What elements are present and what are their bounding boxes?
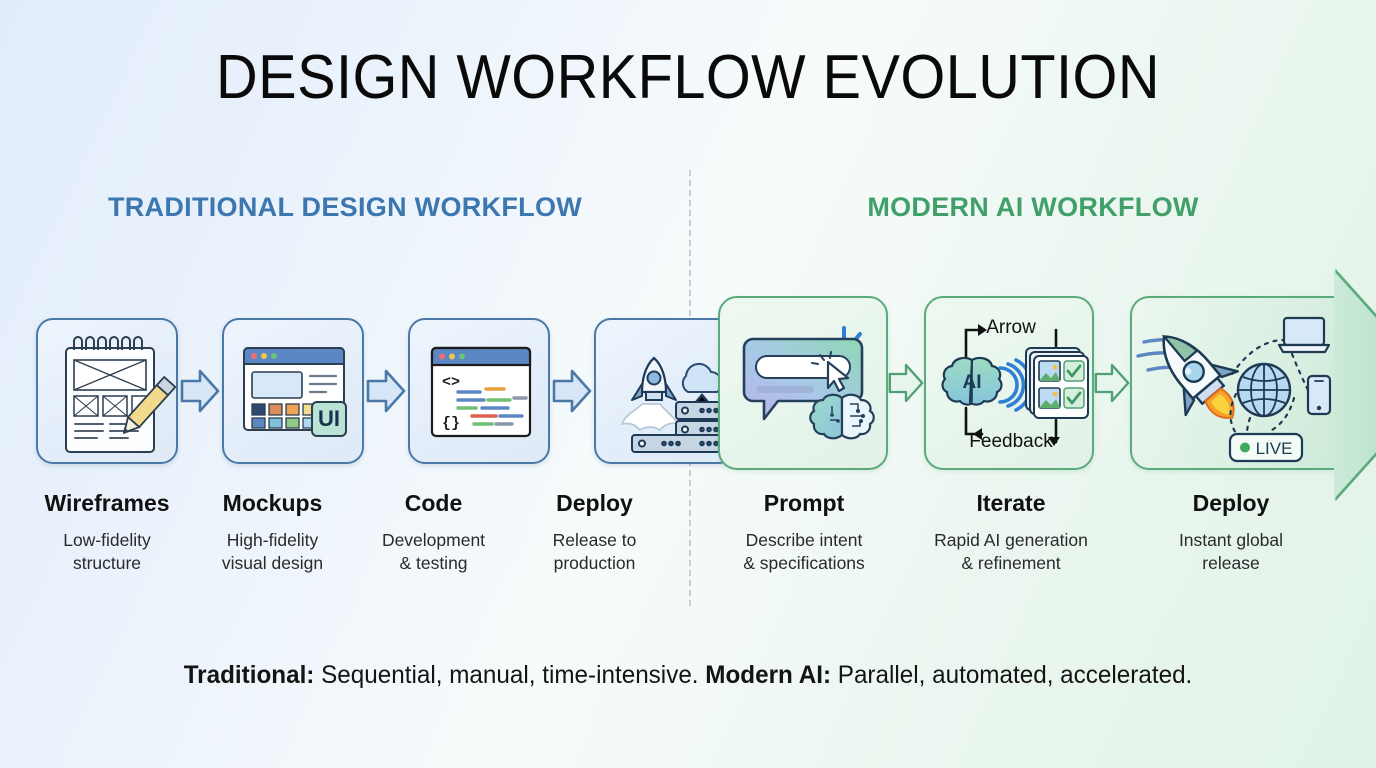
prompt-bubble-brain-icon (720, 298, 886, 468)
live-status-badge-label: LIVE (1256, 439, 1293, 458)
step-label-deploy-traditional: Deploy Release to production (514, 488, 675, 575)
section-header-modern-ai: MODERN AI WORKFLOW (690, 192, 1376, 223)
rocket-server-cloud-icon (596, 320, 734, 462)
flow-connector-arrow (178, 365, 222, 417)
traditional-flow: UI <> {} (36, 318, 736, 464)
flow-connector-arrow (888, 358, 924, 408)
step-caption: High-fidelity visual design (192, 529, 353, 575)
step-card-mockups[interactable]: UI (222, 318, 364, 464)
modern-ai-flow: Arrow Feedback AI (718, 296, 1334, 470)
step-card-deploy-traditional[interactable] (594, 318, 736, 464)
loop-label-feedback: Feedback (969, 431, 1053, 452)
step-caption: Instant global release (1120, 529, 1342, 575)
footer-text-traditional: Sequential, manual, time-intensive. (314, 661, 705, 689)
step-title: Deploy (514, 488, 675, 518)
step-title: Deploy (1120, 488, 1342, 518)
code-angle-bracket-glyph: <> (442, 374, 460, 391)
traditional-step-labels: Wireframes Low-fidelity structure Mockup… (22, 488, 675, 575)
step-caption: Low-fidelity structure (22, 529, 192, 575)
step-title: Code (353, 488, 514, 518)
browser-mockup-icon: UI (224, 320, 362, 462)
step-caption: Development & testing (353, 529, 514, 575)
ai-brain-gallery-icon: Arrow Feedback AI (926, 298, 1092, 468)
step-card-wireframes[interactable] (36, 318, 178, 464)
brain-ai-label: AI (963, 372, 982, 393)
step-label-wireframes: Wireframes Low-fidelity structure (22, 488, 192, 575)
footer-lead-traditional: Traditional: (184, 661, 315, 689)
step-label-iterate: Iterate Rapid AI generation & refinement (902, 488, 1120, 575)
step-card-deploy-ai[interactable]: LIVE (1130, 296, 1334, 470)
step-card-prompt[interactable] (718, 296, 888, 470)
step-caption: Rapid AI generation & refinement (902, 529, 1120, 575)
step-title: Iterate (902, 488, 1120, 518)
step-title: Wireframes (22, 488, 192, 518)
flow-connector-arrow (364, 365, 408, 417)
flow-connector-arrow (1094, 358, 1130, 408)
modern-ai-step-labels: Prompt Describe intent & specifications … (706, 488, 1342, 575)
section-header-traditional: TRADITIONAL DESIGN WORKFLOW (0, 192, 690, 223)
flow-connector-arrow (550, 365, 594, 417)
step-label-code: Code Development & testing (353, 488, 514, 575)
rocket-globe-devices-icon: LIVE (1132, 298, 1334, 468)
wireframe-sketchpad-icon (38, 320, 176, 462)
code-editor-icon: <> {} (410, 320, 548, 462)
code-curly-brace-glyph: {} (442, 415, 460, 432)
summary-footer: Traditional: Sequential, manual, time-in… (21, 658, 1356, 692)
step-title: Mockups (192, 488, 353, 518)
ui-badge-label: UI (318, 406, 340, 431)
step-label-deploy-ai: Deploy Instant global release (1120, 488, 1342, 575)
step-label-mockups: Mockups High-fidelity visual design (192, 488, 353, 575)
step-card-iterate[interactable]: Arrow Feedback AI (924, 296, 1094, 470)
step-label-prompt: Prompt Describe intent & specifications (706, 488, 902, 575)
step-caption: Release to production (514, 529, 675, 575)
step-caption: Describe intent & specifications (706, 529, 902, 575)
step-card-code[interactable]: <> {} (408, 318, 550, 464)
footer-lead-modern-ai: Modern AI: (705, 661, 831, 689)
footer-text-modern-ai: Parallel, automated, accelerated. (831, 661, 1192, 689)
page-title: DESIGN WORKFLOW EVOLUTION (48, 40, 1328, 116)
step-title: Prompt (706, 488, 902, 518)
loop-label-arrow: Arrow (986, 317, 1036, 338)
